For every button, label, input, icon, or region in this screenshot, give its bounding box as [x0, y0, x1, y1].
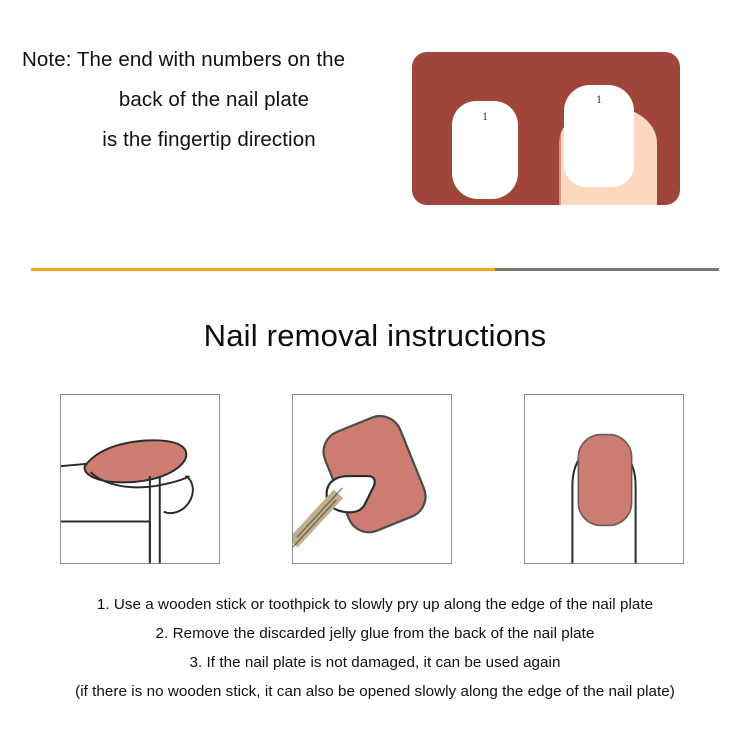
nail-number-label: 1 [564, 94, 634, 106]
instruction-line-3: 3. If the nail plate is not damaged, it … [0, 648, 750, 677]
wooden-stick-lifting-nail-icon [293, 395, 451, 563]
instruction-line-2: 2. Remove the discarded jelly glue from … [0, 619, 750, 648]
divider-segment-green [495, 268, 719, 271]
nail-plate-photo: 1 1 [412, 52, 680, 205]
nail-plate-loose: 1 [452, 101, 518, 199]
instruction-line-1: 1. Use a wooden stick or toothpick to sl… [0, 590, 750, 619]
note-line-2: back of the nail plate [0, 80, 400, 120]
panel-wooden-stick-lifting-nail [292, 394, 452, 564]
intact-nail-on-finger-icon [525, 395, 683, 563]
instruction-line-4: (if there is no wooden stick, it can als… [0, 677, 750, 706]
nail-plate-applied: 1 [564, 85, 634, 187]
note-line-3: is the fingertip direction [0, 120, 400, 160]
section-divider [31, 268, 719, 271]
nail-number-label: 1 [452, 111, 518, 123]
panel-intact-nail-on-finger [524, 394, 684, 564]
divider-segment-orange [31, 268, 495, 271]
pry-up-side-view-icon [61, 395, 219, 563]
illustration-panel-group [60, 394, 684, 566]
instruction-list: 1. Use a wooden stick or toothpick to sl… [0, 590, 750, 706]
panel-pry-up-side-view [60, 394, 220, 564]
finger-edge-line [559, 107, 561, 205]
note-block: Note: The end with numbers on the back o… [0, 40, 400, 220]
note-line-1: Note: The end with numbers on the [0, 40, 400, 80]
page-title: Nail removal instructions [0, 318, 750, 354]
